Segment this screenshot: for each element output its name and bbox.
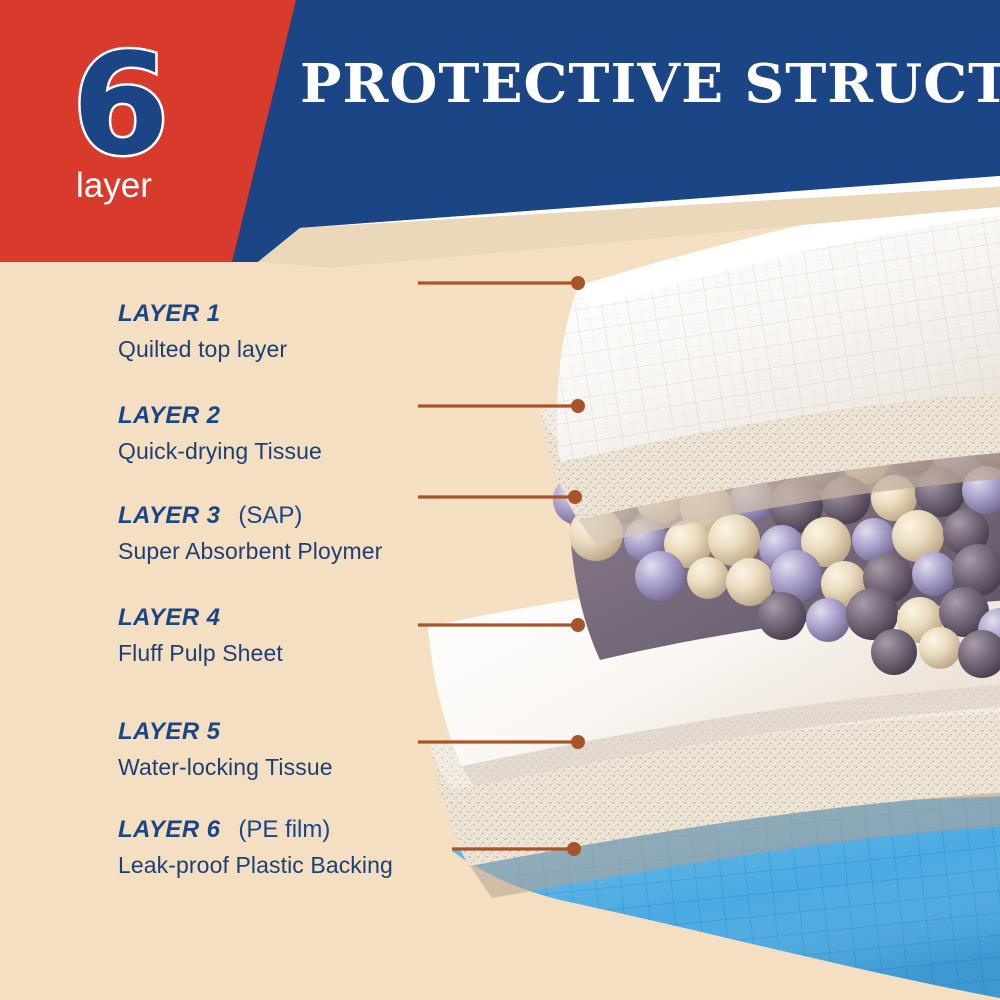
layer-label-6: LAYER 6(PE film) Leak-proof Plastic Back… <box>118 816 393 879</box>
layer-title-3: LAYER 3(SAP) <box>118 502 382 530</box>
layer-desc-5: Water-locking Tissue <box>118 754 333 781</box>
layer-count-number: 6 <box>72 36 167 176</box>
infographic-canvas: 6 layer PROTECTIVE STRUCTURE LAYER 1 Qui… <box>0 0 1000 1000</box>
layer-title-6: LAYER 6(PE film) <box>118 816 393 844</box>
layer-desc-2: Quick-drying Tissue <box>118 438 322 465</box>
layer-title-2: LAYER 2 <box>118 402 322 430</box>
layer-desc-4: Fluff Pulp Sheet <box>118 640 283 667</box>
layer-desc-6: Leak-proof Plastic Backing <box>118 852 393 879</box>
layer-desc-3: Super Absorbent Ploymer <box>118 538 382 565</box>
layer-paren-3: (SAP) <box>238 502 302 529</box>
layer-desc-1: Quilted top layer <box>118 336 287 363</box>
page-title: PROTECTIVE STRUCTURE <box>300 57 986 113</box>
layer-title-1: LAYER 1 <box>118 300 287 328</box>
layer-count-label: layer <box>76 168 152 203</box>
layer-label-4: LAYER 4 Fluff Pulp Sheet <box>118 604 283 667</box>
layer-label-2: LAYER 2 Quick-drying Tissue <box>118 402 322 465</box>
layer-label-1: LAYER 1 Quilted top layer <box>118 300 287 363</box>
layer-label-3: LAYER 3(SAP) Super Absorbent Ploymer <box>118 502 382 565</box>
layer-paren-6: (PE film) <box>238 816 330 843</box>
layer-label-5: LAYER 5 Water-locking Tissue <box>118 718 333 781</box>
layer-title-4: LAYER 4 <box>118 604 283 632</box>
layer-title-5: LAYER 5 <box>118 718 333 746</box>
